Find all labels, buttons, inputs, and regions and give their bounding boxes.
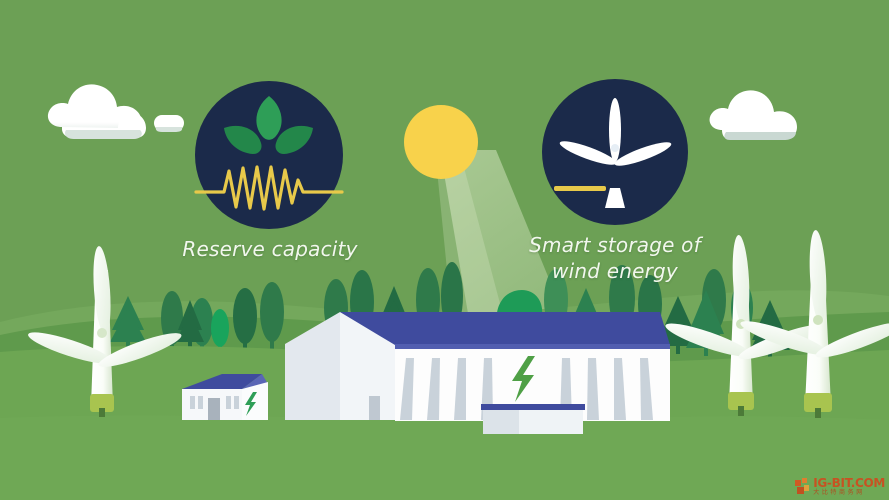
- watermark-subtitle: 大比特商务网: [813, 490, 885, 496]
- turbine-hub: [813, 315, 823, 325]
- front-platform-cap: [481, 404, 585, 410]
- scene-svg: [0, 0, 889, 500]
- cloud-small-left: [154, 115, 184, 132]
- turbine-foot: [99, 408, 105, 417]
- watermark-title: IG-BIT.COM: [813, 477, 885, 489]
- front-platform-left: [483, 408, 519, 434]
- ground-foreground: [0, 415, 889, 500]
- turbine-hub: [97, 328, 107, 338]
- ig-bit-watermark: IG-BIT.COM 大比特商务网: [795, 477, 885, 496]
- badge-smart-storage[interactable]: [542, 79, 688, 225]
- house-door: [208, 398, 220, 420]
- badge-bar-icon: [554, 186, 606, 191]
- sun: [404, 105, 478, 179]
- illustration-canvas: Reserve capacity Smart storage of wind e…: [0, 0, 889, 500]
- badge-label-reserve-capacity: Reserve capacity: [170, 237, 370, 263]
- energy-storage-factory: [285, 312, 670, 434]
- turbine-foot: [815, 408, 821, 418]
- factory-roof-edge: [395, 344, 670, 349]
- factory-door: [369, 396, 380, 420]
- badge-reserve-capacity[interactable]: [195, 81, 343, 229]
- turbine-foot: [738, 406, 744, 416]
- watermark-logo-icon: [795, 478, 810, 495]
- badge-label-smart-storage: Smart storage of wind energy: [515, 233, 715, 284]
- factory-roof: [340, 312, 670, 345]
